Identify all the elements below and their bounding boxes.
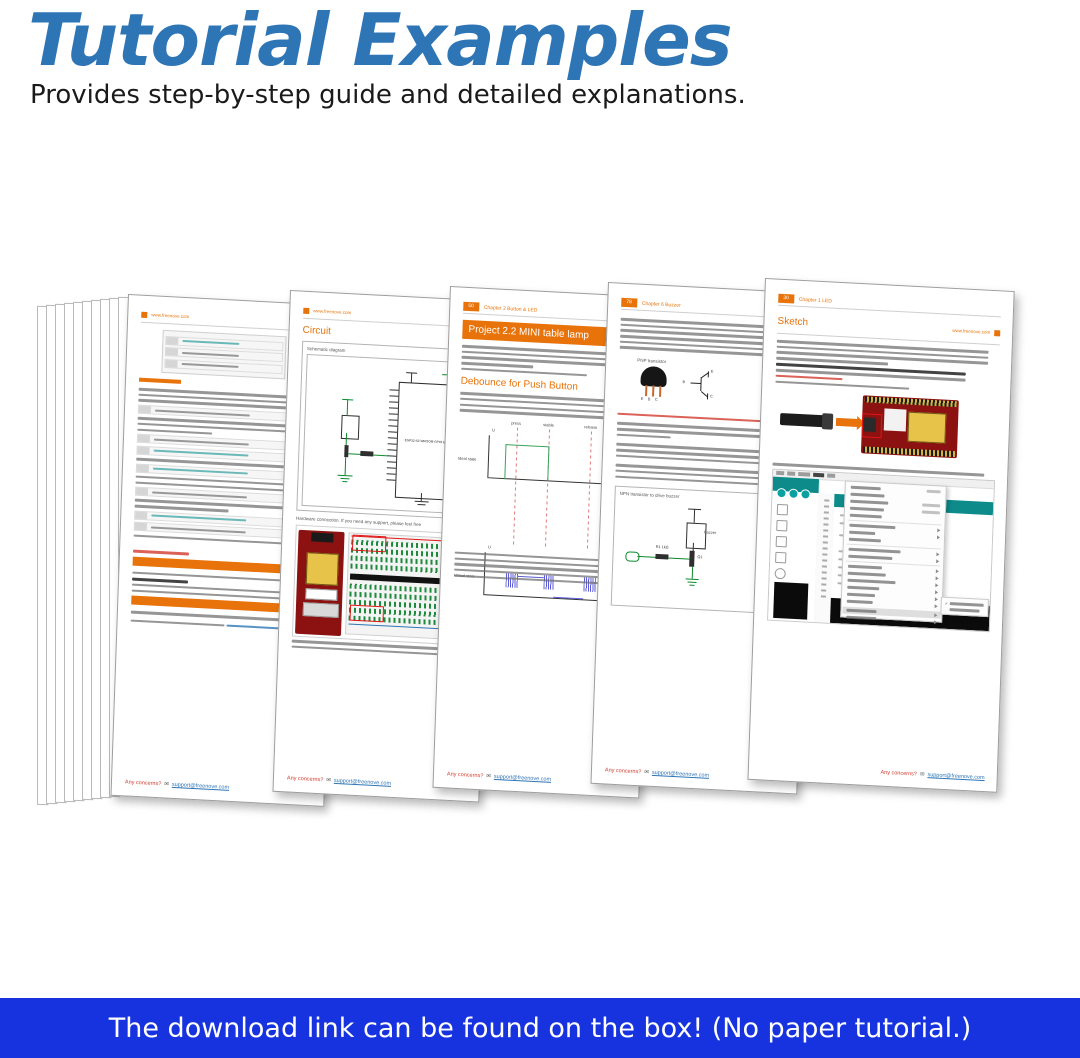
library-manager-icon[interactable] bbox=[776, 536, 787, 548]
menu-item-board[interactable] bbox=[849, 523, 895, 528]
chart-label-press: press bbox=[511, 420, 521, 426]
highlight-box-top bbox=[352, 535, 387, 553]
esp32-board-image bbox=[295, 530, 345, 636]
ide-verify-upload-bar bbox=[773, 476, 819, 492]
page-title: Tutorial Examples bbox=[28, 0, 732, 82]
banner-text: The download link can be found on the bo… bbox=[0, 998, 1080, 1058]
parameters-label bbox=[132, 577, 188, 583]
highlight-box-bottom bbox=[350, 605, 385, 623]
menu-item-cpu-frequency[interactable] bbox=[848, 564, 882, 569]
symbol-pin-b: B bbox=[682, 380, 685, 384]
site-url: www.freenove.com bbox=[151, 312, 189, 319]
usb-port-icon bbox=[311, 532, 333, 542]
footer-email[interactable]: support@freenove.com bbox=[927, 772, 984, 781]
page-footer: Any concerns? ✉ support@freenove.com bbox=[447, 771, 551, 782]
page-subtitle: Provides step-by-step guide and detailed… bbox=[30, 80, 746, 110]
envelope-icon: ✉ bbox=[644, 769, 649, 775]
resistor-label: R1 1kΩ bbox=[656, 545, 669, 550]
usb-cable-icon bbox=[780, 413, 826, 427]
chapter-title: Chapter 6 Buzzer bbox=[642, 300, 681, 308]
freenove-logo-icon bbox=[141, 311, 147, 317]
upload-mode-submenu[interactable]: ✓ bbox=[940, 596, 989, 617]
code-block-loop bbox=[161, 330, 286, 379]
board-silk-label bbox=[884, 408, 907, 431]
menu-item-flash-mode[interactable] bbox=[847, 592, 875, 596]
pin-label-c: C bbox=[655, 398, 658, 402]
debug-button[interactable] bbox=[800, 489, 810, 500]
footer-prompt: Any concerns? bbox=[605, 767, 642, 775]
series-label-ideal: Ideal state bbox=[458, 455, 477, 461]
envelope-icon: ✉ bbox=[326, 777, 331, 783]
axis-label-u: U bbox=[492, 427, 495, 432]
buzzer-symbol bbox=[686, 522, 707, 549]
menu-item-get-board-info[interactable] bbox=[849, 537, 881, 542]
page-footer: Any concerns? ✉ support@freenove.com bbox=[605, 767, 709, 778]
board-components bbox=[303, 602, 339, 618]
site-header: www.freenove.com bbox=[952, 326, 1000, 338]
debug-icon[interactable] bbox=[775, 552, 786, 564]
checkmark-icon: ✓ bbox=[945, 600, 949, 605]
ide-menu-edit[interactable] bbox=[787, 472, 795, 476]
menu-item-events-run-on[interactable] bbox=[847, 585, 879, 590]
menu-item-upload-ssl-certificates[interactable] bbox=[848, 554, 892, 559]
menu-item-core-debug-level[interactable] bbox=[848, 571, 886, 576]
esp32-board-image bbox=[861, 395, 959, 458]
submenu-item-uart0-hardware-cdc[interactable] bbox=[950, 602, 984, 607]
usb-to-board-photo bbox=[773, 387, 998, 471]
tutorial-page-fan: www.freenove.com bbox=[0, 250, 1080, 850]
footer-prompt: Any concerns? bbox=[880, 770, 917, 778]
footer-email[interactable]: support@freenove.com bbox=[334, 778, 391, 787]
envelope-icon: ✉ bbox=[486, 773, 491, 779]
pin-label-b: B bbox=[648, 397, 651, 401]
submenu-item-usb-otg-cdc[interactable] bbox=[949, 608, 979, 613]
upload-button[interactable] bbox=[788, 488, 798, 499]
buzzer-symbol bbox=[341, 415, 360, 440]
menu-item-flash-size[interactable] bbox=[847, 599, 873, 603]
menu-item-manage-libraries[interactable] bbox=[850, 499, 888, 504]
footer-email[interactable]: support@freenove.com bbox=[494, 774, 551, 783]
chapter-title: Chapter 1 LED bbox=[799, 296, 832, 304]
tools-dropdown-menu[interactable] bbox=[840, 480, 947, 622]
verify-button[interactable] bbox=[776, 488, 786, 499]
reference-label bbox=[133, 550, 189, 555]
highlight-ring bbox=[862, 413, 883, 438]
axis-label-u: U bbox=[488, 544, 491, 549]
footer-email[interactable]: support@freenove.com bbox=[652, 770, 709, 779]
transistor-label: Q1 bbox=[697, 555, 702, 559]
page-footer: Any concerns? ✉ support@freenove.com bbox=[125, 779, 229, 790]
footer-prompt: Any concerns? bbox=[447, 771, 484, 779]
chart-label-release: release bbox=[584, 424, 597, 430]
symbol-pin-e: E bbox=[711, 369, 714, 373]
search-icon[interactable] bbox=[775, 568, 786, 580]
arduino-ide-screenshot: ✓ bbox=[767, 468, 995, 632]
transistor-package-icon bbox=[640, 366, 667, 397]
page-number-badge: 78 bbox=[621, 298, 637, 308]
buzzer-label: Buzzer bbox=[704, 530, 716, 535]
envelope-icon: ✉ bbox=[164, 781, 169, 787]
freenove-logo-icon bbox=[994, 330, 1000, 336]
menu-item-usb-cdc-on-boot[interactable] bbox=[849, 547, 901, 553]
arrow-icon bbox=[836, 418, 858, 427]
footer-email[interactable]: support@freenove.com bbox=[172, 782, 229, 791]
ide-menu-sketch[interactable] bbox=[798, 472, 810, 477]
section-banner-reset bbox=[139, 378, 181, 384]
menu-item-auto-format[interactable] bbox=[851, 485, 881, 490]
esp32-module-shield bbox=[907, 412, 946, 444]
symbol-pin-c: C bbox=[710, 394, 713, 398]
ide-menu-tools[interactable] bbox=[813, 473, 824, 478]
menu-item-archive-sketch[interactable] bbox=[850, 492, 884, 497]
tutorial-page-5[interactable]: 30 Chapter 1 LED Sketch www.freenove.com bbox=[747, 278, 1014, 793]
board-silk-label bbox=[305, 588, 337, 601]
ide-menu-help[interactable] bbox=[827, 474, 835, 478]
footer-prompt: Any concerns? bbox=[287, 775, 324, 783]
boards-manager-icon[interactable] bbox=[776, 520, 787, 532]
site-url: www.freenove.com bbox=[313, 308, 351, 315]
footer-prompt: Any concerns? bbox=[125, 779, 162, 787]
envelope-icon: ✉ bbox=[920, 772, 925, 778]
option-label bbox=[776, 374, 843, 380]
page-number-badge: 30 bbox=[778, 294, 794, 304]
pin-label-e: E bbox=[641, 397, 644, 401]
page-footer: Any concerns? ✉ support@freenove.com bbox=[880, 770, 984, 781]
page-footer: Any concerns? ✉ support@freenove.com bbox=[287, 775, 391, 786]
menu-item-erase-flash[interactable] bbox=[847, 578, 895, 584]
menu-item-port[interactable] bbox=[849, 530, 875, 534]
chart-label-stable: stable bbox=[543, 422, 554, 428]
download-link-banner: The download link can be found on the bo… bbox=[0, 998, 1080, 1058]
freenove-logo-icon bbox=[303, 307, 309, 313]
usb-connector-icon bbox=[822, 413, 834, 430]
sketchbook-icon[interactable] bbox=[777, 504, 788, 516]
menu-item-serial-plotter[interactable] bbox=[850, 513, 882, 518]
ide-sidebar-console bbox=[773, 582, 808, 620]
ide-menu-file[interactable] bbox=[776, 471, 784, 475]
page-number-badge: 50 bbox=[463, 302, 479, 312]
menu-item-serial-monitor[interactable] bbox=[850, 506, 884, 511]
section-heading-sketch: Sketch bbox=[777, 316, 808, 329]
page-header: Tutorial Examples Provides step-by-step … bbox=[0, 0, 1080, 130]
site-url: www.freenove.com bbox=[952, 328, 990, 335]
chapter-title: Chapter 2 Button & LED bbox=[484, 304, 538, 313]
esp32-module-shield bbox=[306, 552, 339, 586]
